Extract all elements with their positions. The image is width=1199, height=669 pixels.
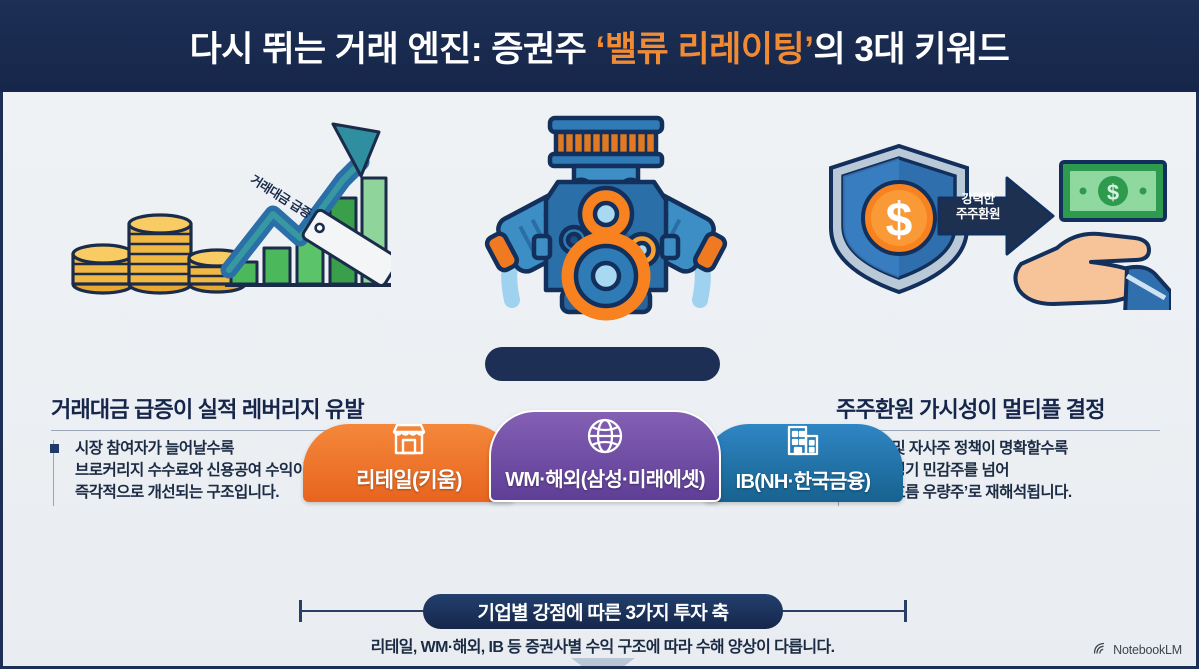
infographic-root: 다시 뛰는 거래 엔진: 증권주 ‘밸류 리레이팅’의 3대 키워드 <box>0 0 1199 669</box>
center-caption: 리테일, WM·해외, IB 등 증권사별 수익 구조에 따라 수해 양상이 다… <box>3 633 1199 657</box>
center-banner: 기업별 강점에 따른 3가지 투자 축 <box>423 594 783 629</box>
pill-ib-label: IB(NH·한국금융) <box>736 465 871 494</box>
segment-axis-cap-left <box>299 600 302 622</box>
building-icon <box>785 423 821 462</box>
globe-icon <box>586 417 624 460</box>
banknote-icon: $ <box>1061 162 1165 220</box>
page-title-prefix: 다시 뛰는 거래 엔진: 증권주 <box>190 30 596 69</box>
pill-retail-label: 리테일(키움) <box>356 464 462 494</box>
svg-text:$: $ <box>886 194 913 247</box>
down-arrow-connector-icon <box>571 658 635 669</box>
pill-ib[interactable]: IB(NH·한국금융) <box>703 424 903 502</box>
pill-wm-overseas[interactable]: WM·해외(삼성·미래에셋) <box>489 410 721 502</box>
svg-text:$: $ <box>1107 180 1119 205</box>
right-insight-line-1: 배당 및 자사주 정책이 명확할수록 <box>860 438 1166 460</box>
segment-axis-cap-right <box>904 600 907 622</box>
open-hand-icon <box>1015 234 1171 310</box>
storefront-icon <box>390 422 428 461</box>
bullet-square-icon <box>50 444 59 453</box>
engine-base-bar <box>485 347 720 381</box>
trading-volume-illustration: 거래대금 급증 <box>61 110 391 300</box>
right-insight-line-3: ‘현금흐름 우량주’로 재해석됩니다. <box>860 482 1166 504</box>
center-banner-text: 기업별 강점에 따른 3가지 투자 축 <box>478 598 729 625</box>
page-title: 다시 뛰는 거래 엔진: 증권주 ‘밸류 리레이팅’의 3대 키워드 <box>190 21 1010 72</box>
notebooklm-logo-icon <box>1093 642 1108 658</box>
coin-stack-icon <box>73 215 245 293</box>
notebooklm-label: NotebookLM <box>1113 643 1182 657</box>
page-title-suffix: 의 3대 키워드 <box>813 30 1009 69</box>
pill-wm-overseas-label: WM·해외(삼성·미래에셋) <box>505 463 705 492</box>
page-title-accent: ‘밸류 리레이팅’ <box>596 30 814 69</box>
header-bar: 다시 뛰는 거래 엔진: 증권주 ‘밸류 리레이팅’의 3대 키워드 <box>0 0 1199 92</box>
engine-illustration <box>466 104 746 364</box>
notebooklm-watermark: NotebookLM <box>1093 642 1182 658</box>
infographic-canvas: 거래대금 급증 <box>0 92 1199 669</box>
pill-retail[interactable]: 리테일(키움) <box>303 424 515 502</box>
shareholder-return-illustration: $ $ <box>821 140 1171 310</box>
business-segment-pills: 리테일(키움) WM·해외(삼성·미래에셋) <box>303 397 903 502</box>
right-insight-line-2: 단순 경기 민감주를 넘어 <box>860 460 1166 482</box>
